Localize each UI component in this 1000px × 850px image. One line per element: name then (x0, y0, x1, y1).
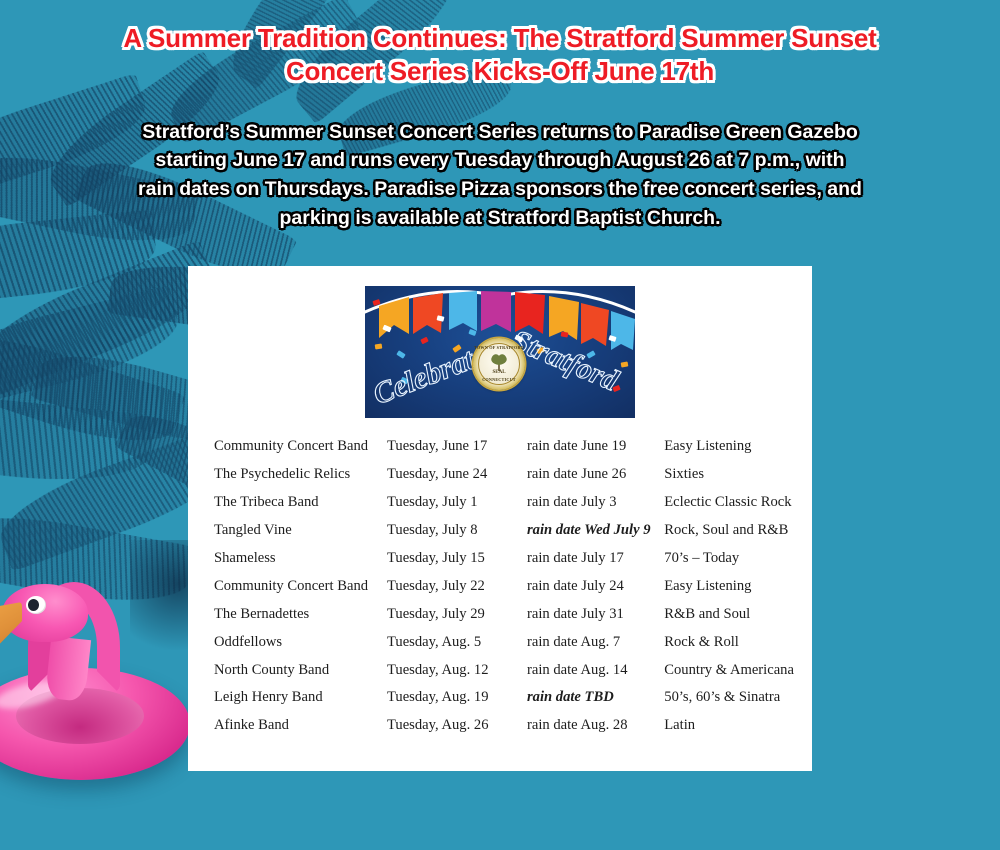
cell-genre: R&B and Soul (664, 600, 794, 628)
cell-band: Shameless (214, 545, 387, 573)
table-row: Community Concert BandTuesday, July 22ra… (214, 572, 794, 600)
cell-band: Tangled Vine (214, 517, 387, 545)
table-row: North County BandTuesday, Aug. 12rain da… (214, 656, 794, 684)
cell-rain-date: rain date June 19 (527, 433, 664, 461)
table-row: Community Concert BandTuesday, June 17ra… (214, 433, 794, 461)
cell-date: Tuesday, Aug. 26 (387, 712, 527, 740)
cell-genre: 50’s, 60’s & Sinatra (664, 684, 794, 712)
cell-date: Tuesday, July 1 (387, 489, 527, 517)
table-row: OddfellowsTuesday, Aug. 5rain date Aug. … (214, 628, 794, 656)
cell-genre: Eclectic Classic Rock (664, 489, 794, 517)
cell-rain-date: rain date June 26 (527, 461, 664, 489)
cell-genre: Sixties (664, 461, 794, 489)
cell-genre: Latin (664, 712, 794, 740)
confetti-piece (396, 350, 405, 358)
cell-rain-date: rain date July 31 (527, 600, 664, 628)
cell-band: North County Band (214, 656, 387, 684)
town-seal-icon: TOWN OF STRATFORD SEAL CONNECTICUT (473, 338, 525, 390)
cell-date: Tuesday, July 8 (387, 517, 527, 545)
cell-rain-date: rain date July 17 (527, 545, 664, 573)
cell-genre: Rock & Roll (664, 628, 794, 656)
table-row: ShamelessTuesday, July 15rain date July … (214, 545, 794, 573)
page-subtitle: Stratford’s Summer Sunset Concert Series… (135, 118, 865, 233)
schedule-card: Celebrate Stratford TOWN OF STRATFORD SE… (188, 266, 812, 771)
cell-date: Tuesday, June 24 (387, 461, 527, 489)
celebrate-stratford-banner: Celebrate Stratford TOWN OF STRATFORD SE… (365, 286, 635, 418)
cell-rain-date: rain date July 3 (527, 489, 664, 517)
cell-band: Leigh Henry Band (214, 684, 387, 712)
cell-band: Community Concert Band (214, 572, 387, 600)
table-row: Afinke BandTuesday, Aug. 26rain date Aug… (214, 712, 794, 740)
cell-date: Tuesday, June 17 (387, 433, 527, 461)
cell-date: Tuesday, July 22 (387, 572, 527, 600)
cell-rain-date: rain date Aug. 28 (527, 712, 664, 740)
cell-rain-date: rain date July 24 (527, 572, 664, 600)
cell-rain-date: rain date TBD (527, 684, 664, 712)
cell-genre: Easy Listening (664, 433, 794, 461)
table-row: Leigh Henry BandTuesday, Aug. 19rain dat… (214, 684, 794, 712)
table-row: The Tribeca BandTuesday, July 1rain date… (214, 489, 794, 517)
cell-date: Tuesday, Aug. 5 (387, 628, 527, 656)
cell-date: Tuesday, Aug. 19 (387, 684, 527, 712)
cell-band: The Bernadettes (214, 600, 387, 628)
seal-mid-text: SEAL (473, 370, 525, 375)
page-title: A Summer Tradition Continues: The Stratf… (80, 22, 920, 88)
concert-schedule-table: Community Concert BandTuesday, June 17ra… (214, 433, 794, 740)
table-row: The Psychedelic RelicsTuesday, June 24ra… (214, 461, 794, 489)
cell-band: The Psychedelic Relics (214, 461, 387, 489)
header-block: A Summer Tradition Continues: The Stratf… (0, 0, 1000, 233)
seal-top-text: TOWN OF STRATFORD (473, 345, 525, 350)
confetti-piece (561, 331, 569, 337)
cell-band: Oddfellows (214, 628, 387, 656)
cell-genre: 70’s – Today (664, 545, 794, 573)
cell-date: Tuesday, July 29 (387, 600, 527, 628)
cell-genre: Rock, Soul and R&B (664, 517, 794, 545)
cell-rain-date: rain date Aug. 7 (527, 628, 664, 656)
cell-genre: Easy Listening (664, 572, 794, 600)
seal-tree-icon (488, 351, 510, 371)
cell-genre: Country & Americana (664, 656, 794, 684)
table-row: Tangled VineTuesday, July 8rain date Wed… (214, 517, 794, 545)
confetti-piece (375, 344, 383, 350)
cell-band: The Tribeca Band (214, 489, 387, 517)
cell-band: Community Concert Band (214, 433, 387, 461)
seal-bottom-text: CONNECTICUT (473, 377, 525, 382)
cell-rain-date: rain date Wed July 9 (527, 517, 664, 545)
cell-rain-date: rain date Aug. 14 (527, 656, 664, 684)
cell-date: Tuesday, Aug. 12 (387, 656, 527, 684)
cell-date: Tuesday, July 15 (387, 545, 527, 573)
table-row: The BernadettesTuesday, July 29rain date… (214, 600, 794, 628)
cell-band: Afinke Band (214, 712, 387, 740)
